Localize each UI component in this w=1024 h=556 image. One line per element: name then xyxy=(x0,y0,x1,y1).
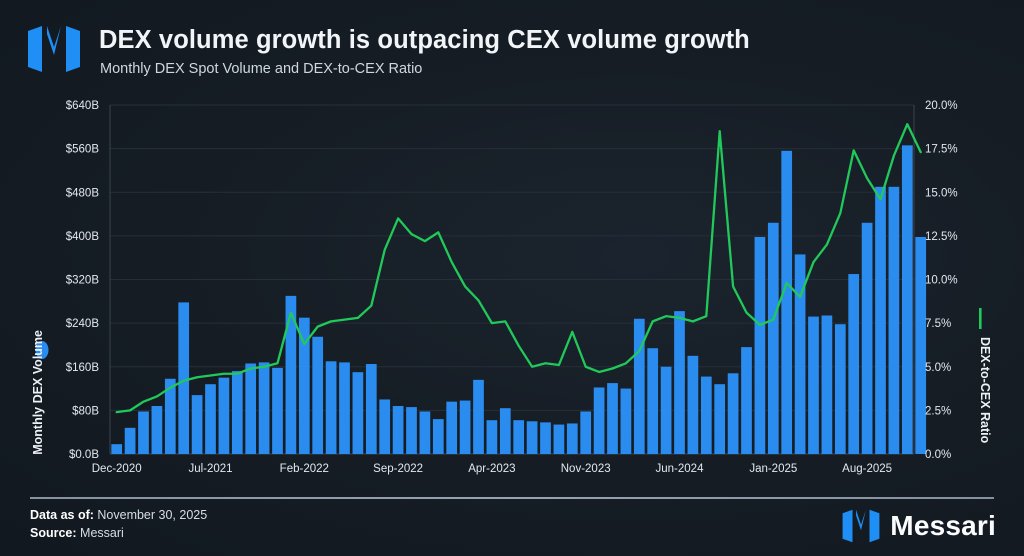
data-as-of-line: Data as of: November 30, 2025 xyxy=(30,506,207,524)
bar xyxy=(232,371,243,454)
bar xyxy=(259,362,270,454)
y-axis-left-tick-label: $640B xyxy=(66,100,100,112)
bar xyxy=(607,383,618,454)
bar xyxy=(111,444,122,454)
bar xyxy=(433,419,444,454)
bar xyxy=(406,407,417,454)
page-subtitle: Monthly DEX Spot Volume and DEX-to-CEX R… xyxy=(100,61,422,77)
bar xyxy=(540,422,551,454)
source-label: Source: xyxy=(30,526,77,540)
bar xyxy=(580,411,591,454)
bar xyxy=(634,319,645,454)
y-axis-left-tick-label: $400B xyxy=(66,231,100,243)
y-axis-left-ticks: $0.0B$80B$160B$240B$320B$400B$480B$560B$… xyxy=(66,100,100,461)
bar xyxy=(674,311,685,454)
y-axis-left-tick-label: $160B xyxy=(66,362,100,374)
y-axis-right-tick-label: 7.5% xyxy=(925,318,951,330)
y-axis-left-tick-label: $480B xyxy=(66,187,100,199)
bar xyxy=(862,223,873,454)
x-axis-tick-label: Aug-2025 xyxy=(842,463,892,475)
bar xyxy=(245,363,256,454)
bar xyxy=(647,348,658,454)
bar xyxy=(701,377,712,454)
footer-brand: Messari xyxy=(841,509,996,543)
y-axis-left-tick-label: $80B xyxy=(72,405,99,417)
x-axis-tick-label: Apr-2023 xyxy=(468,463,515,475)
grid-lines xyxy=(110,105,914,454)
y-axis-right-tick-label: 17.5% xyxy=(925,144,958,156)
bar xyxy=(594,387,605,454)
bar xyxy=(822,315,833,454)
footer-brand-text: Messari xyxy=(890,512,996,540)
x-axis-tick-label: Sep-2022 xyxy=(373,463,423,475)
bar xyxy=(473,380,484,454)
bar xyxy=(567,423,578,454)
chart-page: DEX volume growth is outpacing CEX volum… xyxy=(0,0,1024,556)
y-axis-right-tick-label: 15.0% xyxy=(925,187,958,199)
header: DEX volume growth is outpacing CEX volum… xyxy=(0,0,1024,92)
bar xyxy=(312,337,323,454)
bar xyxy=(326,361,337,454)
bar xyxy=(446,402,457,454)
messari-m-logo-icon xyxy=(26,25,82,73)
bar xyxy=(755,237,766,454)
bar xyxy=(835,324,846,454)
bar xyxy=(848,274,859,454)
bar xyxy=(420,411,431,454)
bar xyxy=(272,368,283,454)
x-axis-tick-label: Nov-2023 xyxy=(561,463,611,475)
y-axis-left-tick-label: $0.0B xyxy=(69,449,99,461)
y-axis-right-title-text: DEX-to-CEX Ratio xyxy=(978,337,992,444)
bar xyxy=(460,401,471,454)
bar xyxy=(781,151,792,454)
footer-divider xyxy=(30,497,994,499)
bar xyxy=(487,420,498,454)
y-axis-right-tick-label: 2.5% xyxy=(925,405,951,417)
y-axis-right-tick-label: 0.0% xyxy=(925,449,951,461)
bar xyxy=(500,408,511,454)
y-axis-right-tick-label: 12.5% xyxy=(925,231,958,243)
x-axis-tick-label: Feb-2022 xyxy=(280,463,329,475)
y-axis-right-ticks: 0.0%2.5%5.0%7.5%10.0%12.5%15.0%17.5%20.0… xyxy=(925,100,958,461)
source-line: Source: Messari xyxy=(30,524,207,542)
bar xyxy=(554,425,565,454)
bar xyxy=(138,411,149,454)
bar xyxy=(205,384,216,454)
x-axis-tick-label: Jul-2021 xyxy=(188,463,232,475)
bar xyxy=(768,223,779,454)
bar xyxy=(808,317,819,454)
bar xyxy=(353,372,364,454)
x-axis-tick-label: Dec-2020 xyxy=(92,463,142,475)
source-value: Messari xyxy=(80,526,124,540)
bar xyxy=(714,384,725,454)
bar xyxy=(621,389,632,454)
bar xyxy=(379,399,390,454)
data-as-of-label: Data as of: xyxy=(30,508,94,522)
bar xyxy=(875,187,886,454)
bar xyxy=(741,347,752,454)
footer: Data as of: November 30, 2025 Source: Me… xyxy=(30,506,207,542)
bar xyxy=(393,406,404,454)
data-as-of-value: November 30, 2025 xyxy=(97,508,207,522)
bar xyxy=(513,420,524,454)
bar xyxy=(152,406,163,454)
x-axis-ticks: Dec-2020Jul-2021Feb-2022Sep-2022Apr-2023… xyxy=(92,463,892,475)
chart-container: $0.0B$80B$160B$240B$320B$400B$480B$560B$… xyxy=(0,92,1024,480)
y-axis-right-tick-label: 5.0% xyxy=(925,362,951,374)
bar xyxy=(178,302,189,454)
bar xyxy=(527,421,538,454)
bar xyxy=(915,237,926,454)
bar xyxy=(902,145,913,454)
y-axis-left-tick-label: $240B xyxy=(66,318,100,330)
y-axis-left-tick-label: $320B xyxy=(66,275,100,287)
bar xyxy=(889,187,900,454)
y-axis-right-tick-label: 20.0% xyxy=(925,100,958,112)
bar xyxy=(192,395,203,454)
bar xyxy=(688,356,699,454)
x-axis-tick-label: Jan-2025 xyxy=(749,463,797,475)
y-axis-left-title: Monthly DEX Volume xyxy=(31,330,49,455)
messari-m-logo-icon xyxy=(841,509,881,543)
y-axis-left-title-text: Monthly DEX Volume xyxy=(31,330,45,455)
ratio-legend-marker xyxy=(979,308,982,329)
y-axis-right-title: DEX-to-CEX Ratio xyxy=(978,308,992,444)
page-title: DEX volume growth is outpacing CEX volum… xyxy=(99,26,750,55)
y-axis-right-tick-label: 10.0% xyxy=(925,275,958,287)
bar xyxy=(366,364,377,454)
bar xyxy=(661,367,672,454)
x-axis-tick-label: Jun-2024 xyxy=(656,463,705,475)
dex-volume-chart: $0.0B$80B$160B$240B$320B$400B$480B$560B$… xyxy=(0,92,1024,480)
bar xyxy=(339,362,350,454)
bar xyxy=(125,428,136,454)
bar-series xyxy=(111,145,926,454)
bar xyxy=(219,378,230,454)
y-axis-left-tick-label: $560B xyxy=(66,144,100,156)
bar xyxy=(728,373,739,454)
